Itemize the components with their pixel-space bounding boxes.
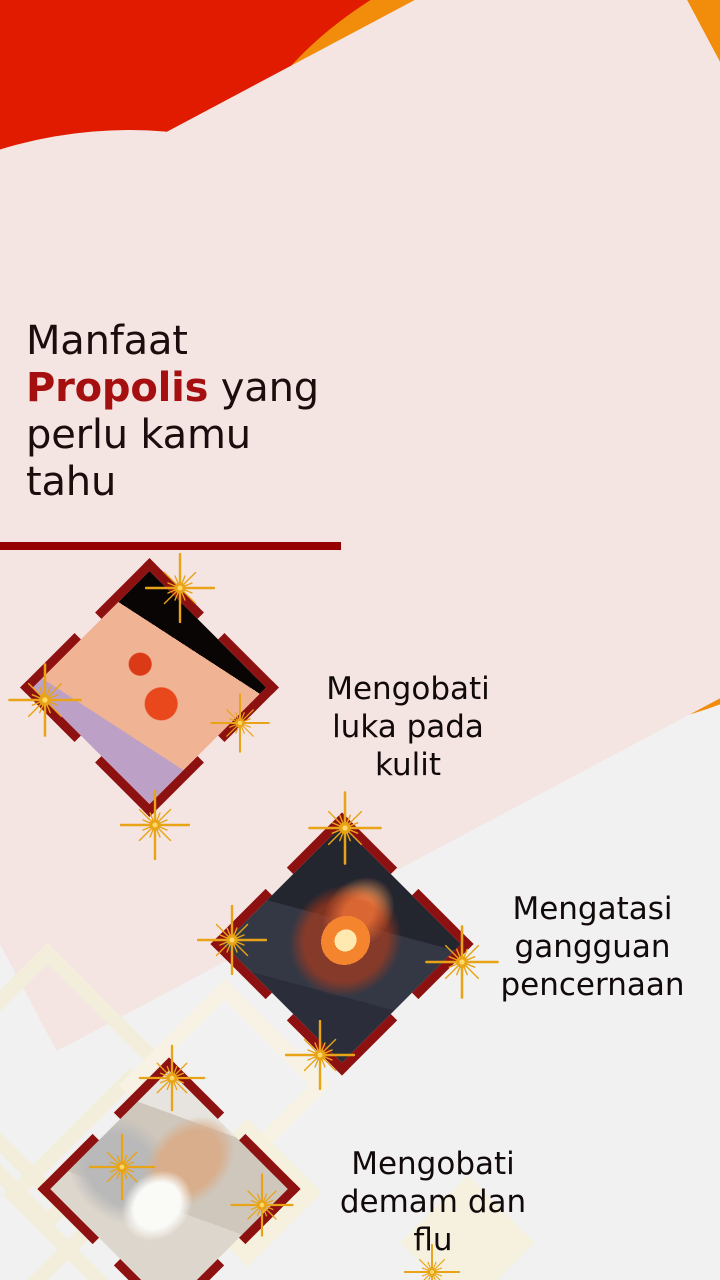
sparkle-star-icon bbox=[145, 553, 215, 623]
benefit-photo-1 bbox=[67, 605, 232, 770]
texture-sliver-mauve bbox=[338, 40, 488, 145]
sparkle-star-icon bbox=[231, 1174, 294, 1237]
texture-sliver-tan bbox=[448, 0, 528, 34]
benefit-caption-1: Mengobati luka pada kulit bbox=[296, 670, 520, 784]
sparkle-star-icon bbox=[139, 1045, 206, 1112]
caption-3-line-1: Mengobati bbox=[310, 1145, 556, 1183]
sparkle-star-icon bbox=[308, 791, 382, 865]
title-underline bbox=[0, 542, 341, 550]
caption-1-line-1: Mengobati bbox=[296, 670, 520, 708]
caption-1-line-2: luka pada bbox=[296, 708, 520, 746]
sparkle-star-icon bbox=[285, 1020, 355, 1090]
texture-sliver-gray bbox=[330, 0, 540, 130]
sparkle-star-icon bbox=[120, 790, 190, 860]
caption-2-line-3: pencernaan bbox=[470, 966, 715, 1004]
benefit-caption-2: Mengatasi gangguan pencernaan bbox=[470, 890, 715, 1004]
sparkle-star-icon bbox=[404, 1244, 460, 1280]
sparkle-star-icon bbox=[425, 925, 499, 999]
infographic-poster: Manfaat Propolis yang perlu kamu tahu Me… bbox=[0, 0, 720, 1280]
page-title: Manfaat Propolis yang perlu kamu tahu bbox=[26, 318, 386, 506]
sparkle-star-icon bbox=[8, 663, 82, 737]
sparkle-star-icon bbox=[210, 693, 270, 753]
caption-3-line-2: demam dan bbox=[310, 1183, 556, 1221]
caption-2-line-2: gangguan bbox=[470, 928, 715, 966]
sparkle-star-icon bbox=[89, 1134, 156, 1201]
benefit-photo-2 bbox=[258, 860, 426, 1028]
title-line-4: tahu bbox=[26, 459, 116, 505]
benefit-caption-3: Mengobati demam dan flu bbox=[310, 1145, 556, 1259]
sparkle-star-icon bbox=[197, 905, 267, 975]
title-line-1: Manfaat bbox=[26, 318, 188, 364]
title-highlight-propolis: Propolis bbox=[26, 365, 208, 411]
title-line-2-tail: yang bbox=[208, 365, 319, 411]
caption-1-line-3: kulit bbox=[296, 746, 520, 784]
caption-2-line-1: Mengatasi bbox=[470, 890, 715, 928]
title-line-3: perlu kamu bbox=[26, 412, 251, 458]
